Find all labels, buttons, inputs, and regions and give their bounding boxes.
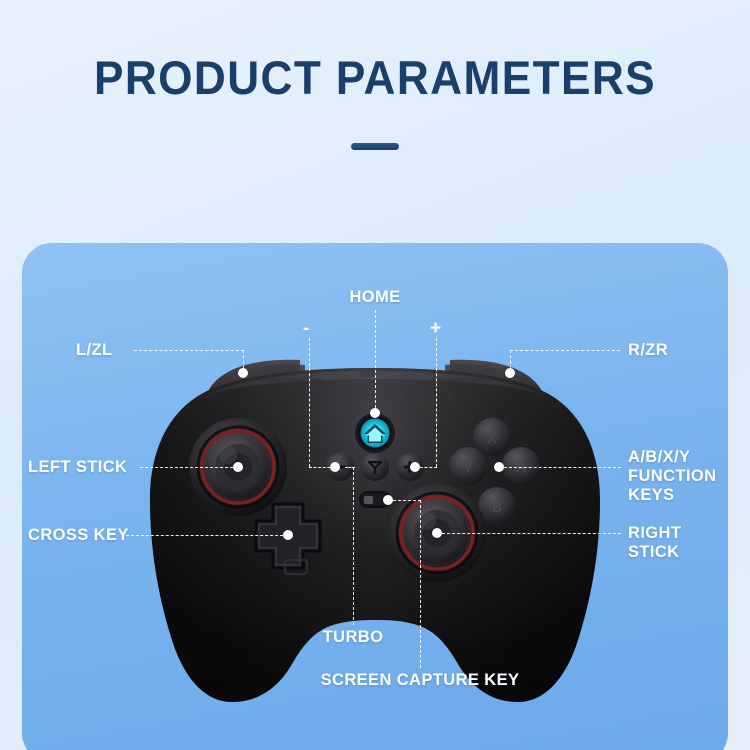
leader-l-zl-horizontal <box>134 350 244 351</box>
header: PRODUCT PARAMETERS <box>0 0 750 200</box>
callout-abxy-function-keys: A/B/X/Y FUNCTION KEYS <box>628 448 716 505</box>
leader-turbo-horizontal <box>345 467 355 468</box>
leader-abxy <box>499 467 621 468</box>
dot-cross-key <box>283 530 293 540</box>
dot-right-stick <box>432 528 442 538</box>
title-divider <box>351 143 399 150</box>
leader-turbo-vertical <box>353 467 354 625</box>
leader-home-vertical <box>375 310 376 413</box>
callout-left-stick: LEFT STICK <box>28 458 127 477</box>
callout-turbo: TURBO <box>303 628 403 647</box>
callout-screen-capture-key: SCREEN CAPTURE KEY <box>285 671 555 690</box>
callout-plus-symbol: + <box>430 319 441 338</box>
page-title: PRODUCT PARAMETERS <box>23 50 728 105</box>
dot-home <box>370 408 380 418</box>
dot-r-zr <box>505 368 515 378</box>
dot-l-zl <box>238 368 248 378</box>
callout-minus-symbol: - <box>303 319 309 338</box>
dot-plus <box>410 462 420 472</box>
leader-cross-key <box>126 535 288 536</box>
callout-right-stick: RIGHT STICK <box>628 524 681 562</box>
leader-left-stick <box>140 467 238 468</box>
dot-minus <box>330 462 340 472</box>
leader-capture-vertical <box>420 500 421 668</box>
dot-left-stick <box>233 462 243 472</box>
leader-right-stick <box>437 533 621 534</box>
leader-r-zr-horizontal <box>510 350 620 351</box>
callout-home: HOME <box>325 288 425 307</box>
dot-capture <box>383 495 393 505</box>
leader-minus-vertical <box>309 338 310 467</box>
dot-abxy <box>494 462 504 472</box>
callout-l-zl: L/ZL <box>76 341 112 360</box>
callout-r-zr: R/ZR <box>628 341 668 360</box>
callout-cross-key: CROSS KEY <box>28 526 129 545</box>
leader-plus-vertical <box>436 338 437 467</box>
